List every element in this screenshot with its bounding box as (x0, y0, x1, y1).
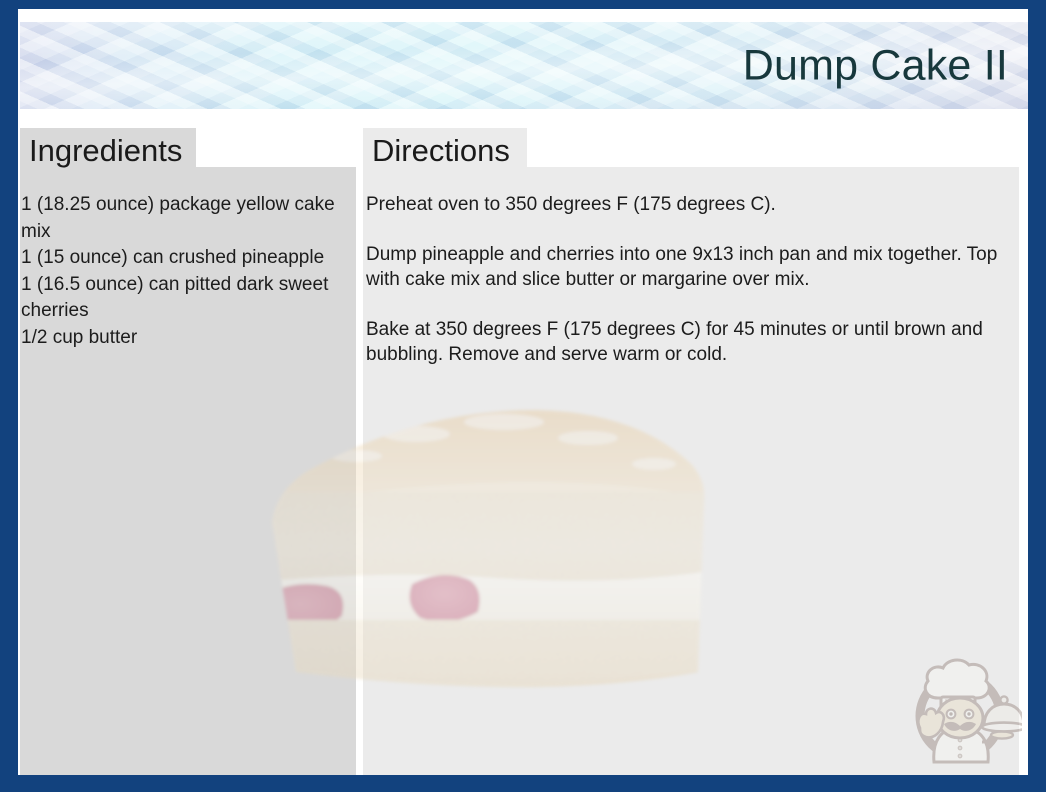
directions-body: Preheat oven to 350 degrees F (175 degre… (366, 192, 1016, 367)
title-banner: Dump Cake II (20, 22, 1028, 109)
frame-border-left (0, 0, 18, 792)
directions-heading: Directions (363, 128, 527, 174)
recipe-title: Dump Cake II (743, 44, 1008, 87)
list-item: 1 (18.25 ounce) package yellow cake mix (21, 192, 339, 245)
frame-border-right (1028, 0, 1046, 792)
ingredients-list: 1 (18.25 ounce) package yellow cake mix … (21, 192, 339, 351)
list-item: 1/2 cup butter (21, 325, 339, 352)
frame-border-bottom (0, 775, 1046, 792)
direction-step: Preheat oven to 350 degrees F (175 degre… (366, 192, 1016, 217)
direction-step: Dump pineapple and cherries into one 9x1… (366, 242, 1016, 292)
frame-border-top (0, 0, 1046, 9)
direction-step: Bake at 350 degrees F (175 degrees C) fo… (366, 317, 1016, 367)
list-item: 1 (15 ounce) can crushed pineapple (21, 245, 339, 272)
ingredients-heading: Ingredients (20, 128, 196, 174)
recipe-card-page: Dump Cake II Ingredients 1 (18.25 ounce)… (0, 0, 1046, 792)
list-item: 1 (16.5 ounce) can pitted dark sweet che… (21, 272, 339, 325)
